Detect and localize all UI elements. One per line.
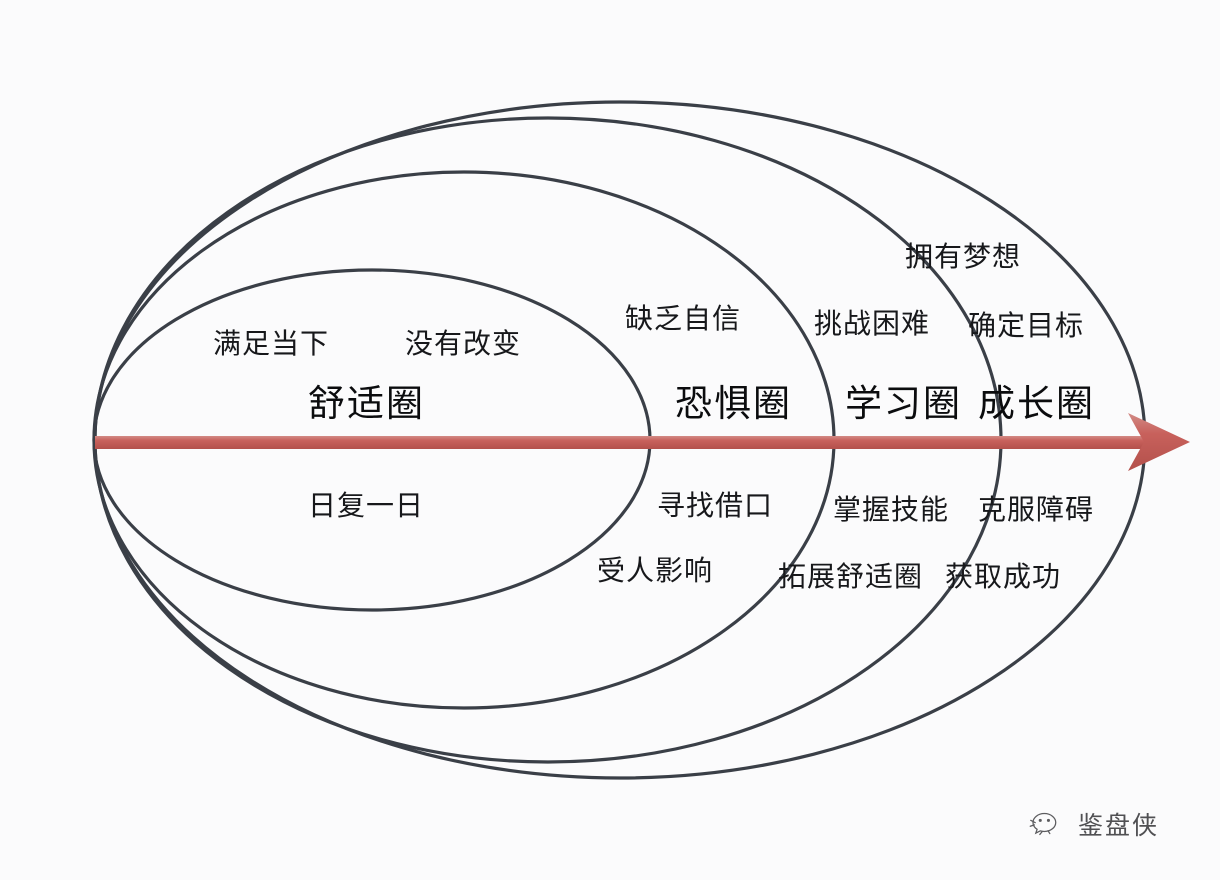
item-label-comfort-3: 日复一日 bbox=[308, 492, 424, 520]
item-label-comfort-1: 满足当下 bbox=[213, 330, 329, 358]
nested-ellipses-graphic bbox=[0, 0, 1220, 880]
item-label-learning-2: 掌握技能 bbox=[833, 496, 949, 524]
item-label-learning-1: 挑战困难 bbox=[814, 310, 930, 338]
wechat-icon bbox=[1028, 807, 1068, 841]
item-label-fear-1: 缺乏自信 bbox=[625, 305, 741, 333]
item-label-learning-3: 拓展舒适圈 bbox=[778, 563, 923, 591]
item-label-growth-1: 拥有梦想 bbox=[905, 243, 1021, 271]
diagram-canvas: 舒适圈 恐惧圈 学习圈 成长圈 满足当下 没有改变 日复一日 缺乏自信 寻找借口… bbox=[0, 0, 1220, 880]
ring-label-fear: 恐惧圈 bbox=[675, 385, 792, 422]
watermark-text: 鉴盘侠 bbox=[1078, 806, 1159, 842]
item-label-growth-2: 确定目标 bbox=[968, 312, 1084, 340]
item-label-fear-2: 寻找借口 bbox=[657, 492, 773, 520]
ring-label-learning: 学习圈 bbox=[845, 385, 962, 422]
item-label-growth-4: 获取成功 bbox=[945, 563, 1061, 591]
item-label-comfort-2: 没有改变 bbox=[405, 330, 521, 358]
ring-label-comfort: 舒适圈 bbox=[308, 385, 425, 422]
ring-label-growth: 成长圈 bbox=[978, 385, 1095, 422]
item-label-growth-3: 克服障碍 bbox=[978, 496, 1094, 524]
watermark: 鉴盘侠 bbox=[1028, 806, 1159, 842]
item-label-fear-3: 受人影响 bbox=[597, 557, 713, 585]
